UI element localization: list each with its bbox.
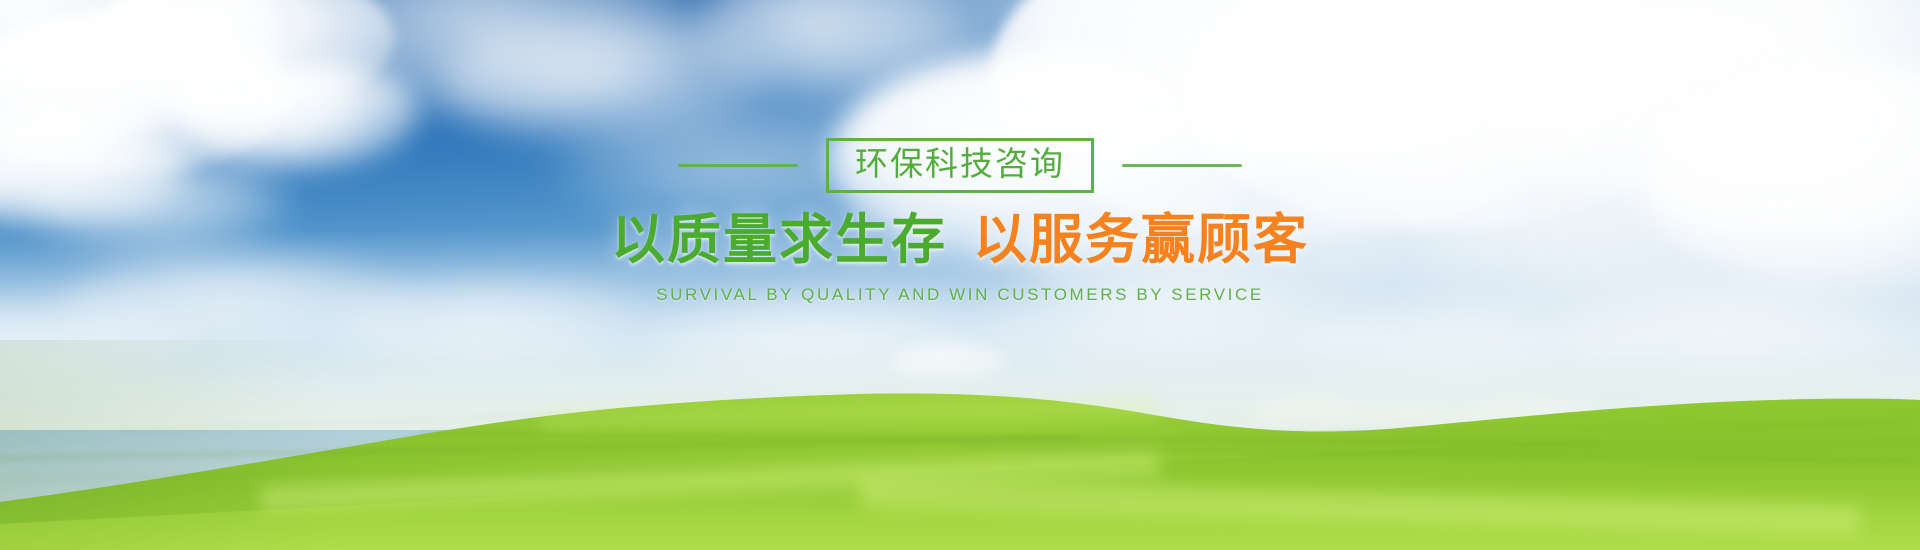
eyebrow-row: 环保科技咨询 <box>678 138 1242 193</box>
headline-orange-text: 以服务赢顾客 <box>973 211 1309 269</box>
eyebrow-rule-left <box>678 164 798 167</box>
grass-hills <box>0 290 1920 550</box>
headline: 以质量求生存 以服务赢顾客 <box>611 211 1309 269</box>
subheadline: SURVIVAL BY QUALITY AND WIN CUSTOMERS BY… <box>656 285 1264 305</box>
banner-content: 环保科技咨询 以质量求生存 以服务赢顾客 SURVIVAL BY QUALITY… <box>0 138 1920 305</box>
eyebrow-box: 环保科技咨询 <box>826 138 1094 193</box>
eyebrow-label: 环保科技咨询 <box>855 147 1065 180</box>
hill-silhouette <box>0 290 1920 550</box>
hero-banner: 环保科技咨询 以质量求生存 以服务赢顾客 SURVIVAL BY QUALITY… <box>0 0 1920 550</box>
headline-green-text: 以质量求生存 <box>611 211 947 269</box>
eyebrow-rule-right <box>1122 164 1242 167</box>
